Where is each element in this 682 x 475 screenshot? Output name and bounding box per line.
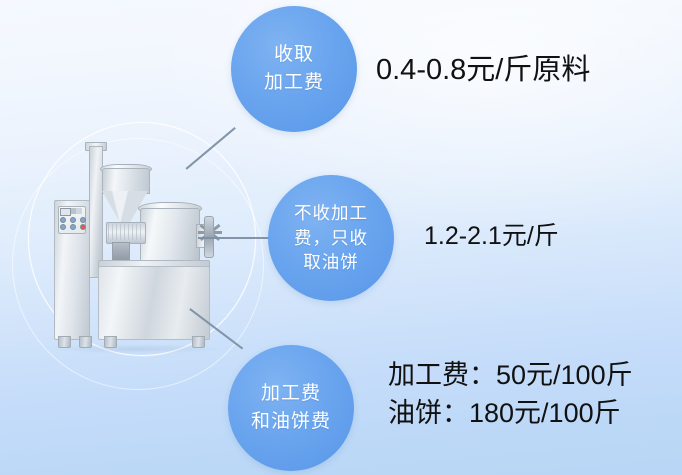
bubble-bottom-line-2: 和油饼费 (251, 408, 331, 436)
machine-barrel-ribs (108, 224, 142, 240)
machine-hopper-cone-highlight (112, 191, 128, 224)
control-panel-display (60, 208, 71, 216)
bubble-bottom-line-1: 加工费 (261, 380, 321, 408)
bubble-middle-line-1: 不收加工 (294, 201, 368, 226)
machine-leg (104, 336, 117, 348)
control-button (70, 224, 76, 230)
machine-leg (192, 336, 205, 348)
price-bottom-line-2: 油饼：180元/100斤 (388, 394, 633, 432)
machine-back-column (89, 146, 103, 278)
price-text-top: 0.4-0.8元/斤原料 (376, 46, 590, 88)
price-text-bottom: 加工费：50元/100斤 油饼：180元/100斤 (388, 356, 633, 433)
connector-line-middle (198, 237, 270, 239)
control-button (80, 217, 86, 223)
machine-body-cabinet (98, 266, 210, 340)
infographic-canvas: 收取 加工费 不收加工 费，只收 取油饼 加工费 和油饼费 0.4-0.8元/斤… (0, 0, 682, 475)
bubble-top-line-1: 收取 (274, 41, 314, 69)
bubble-top-line-2: 加工费 (264, 69, 324, 97)
machine-leg (79, 336, 92, 348)
control-button (60, 224, 66, 230)
control-panel-button-row (60, 224, 86, 230)
option-bubble-top[interactable]: 收取 加工费 (231, 6, 357, 132)
option-bubble-middle[interactable]: 不收加工 费，只收 取油饼 (268, 175, 394, 301)
option-bubble-bottom[interactable]: 加工费 和油饼费 (228, 345, 354, 471)
machine-oil-outlet (112, 242, 130, 262)
control-button (60, 217, 66, 223)
control-button (70, 217, 76, 223)
bubble-middle-line-3: 取油饼 (303, 250, 359, 275)
bubble-middle-line-2: 费，只收 (294, 226, 368, 251)
control-button-stop (80, 224, 86, 230)
control-panel-label (71, 208, 82, 214)
price-bottom-line-1: 加工费：50元/100斤 (388, 356, 633, 394)
price-text-middle: 1.2-2.1元/斤 (424, 216, 559, 252)
control-panel-button-row (60, 217, 86, 223)
machine-leg (58, 336, 71, 348)
